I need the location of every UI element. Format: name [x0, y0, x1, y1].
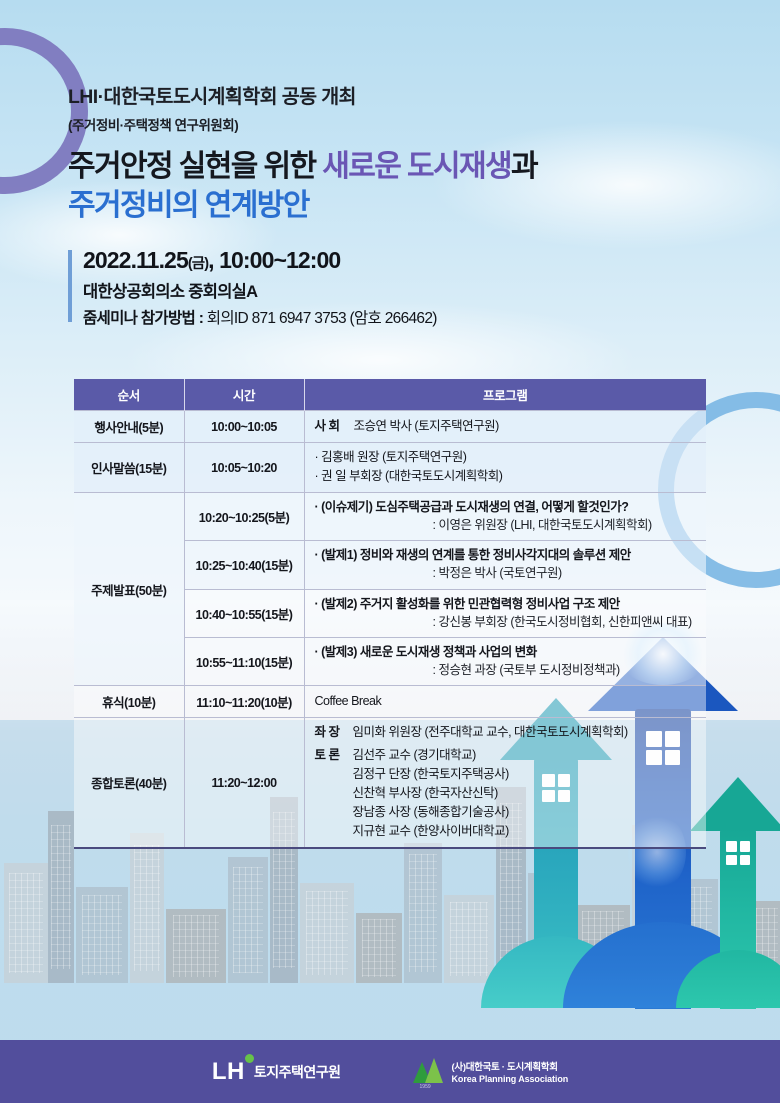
title-part-3: 과 [511, 150, 537, 183]
host-line: LHI·대한국토도시계획학회 공동 개최 [68, 80, 708, 109]
table-row: 종합토론(40분) 11:20~12:00 좌 장임미화 위원장 (전주대학교 … [74, 718, 706, 849]
lh-dot-icon [245, 1054, 254, 1063]
row-time: 11:10~11:20(10분) [184, 686, 304, 718]
greeting-line: · 김홍배 원장 (토지주택연구원) [315, 448, 699, 467]
title-part-2-highlight: 새로운 도시재생 [322, 150, 511, 183]
session-speaker: : 박정은 박사 (국토연구원) [315, 564, 699, 582]
kpa-name-en: Korea Planning Association [452, 1074, 569, 1084]
session-speaker: : 강신봉 부회장 (한국도시정비협회, 신한피앤씨 대표) [315, 613, 699, 631]
event-datetime: 2022.11.25(금), 10:00~12:00 [83, 247, 708, 274]
col-header-time: 시간 [184, 379, 304, 411]
panelist-name: 신찬혁 부사장 (한국자산신탁) [353, 786, 498, 800]
session-title: · (발제3) 새로운 도시재생 정책과 사업의 변화 [315, 645, 537, 659]
row-time: 10:20~10:25(5분) [184, 493, 304, 541]
row-program: · (이슈제기) 도심주택공급과 도시재생의 연결, 어떻게 할것인가? : 이… [304, 493, 706, 541]
row-program: · (발제1) 정비와 재생의 연계를 통한 정비사각지대의 솔루션 제안 : … [304, 541, 706, 589]
panel-line: 신찬혁 부사장 (한국자산신탁) [315, 784, 699, 803]
row-program: Coffee Break [304, 686, 706, 718]
table-head: 순서 시간 프로그램 [74, 379, 706, 411]
zoom-meeting-id: 회의ID 871 6947 3753 (암호 266462) [207, 310, 437, 327]
row-program: 사 회 조승연 박사 (토지주택연구원) [304, 411, 706, 443]
program-table: 순서 시간 프로그램 행사안내(5분) 10:00~10:05 사 회 조승연 … [74, 379, 706, 849]
page-title: 주거안정 실현을 위한 새로운 도시재생과 주거정비의 연계방안 [68, 147, 708, 225]
panelist-name: 김정구 단장 (한국토지주택공사) [353, 767, 509, 781]
footer-bar: LH 토지주택연구원 1959 (사)대한국토 · 도시계획학회 Korea P… [0, 1040, 780, 1103]
col-header-program: 프로그램 [304, 379, 706, 411]
table-header-row: 순서 시간 프로그램 [74, 379, 706, 411]
table-row: 행사안내(5분) 10:00~10:05 사 회 조승연 박사 (토지주택연구원… [74, 411, 706, 443]
session-title: · (발제1) 정비와 재생의 연계를 통한 정비사각지대의 솔루션 제안 [315, 548, 631, 562]
panel-line: 지규현 교수 (한양사이버대학교) [315, 822, 699, 841]
session-title: · (이슈제기) 도심주택공급과 도시재생의 연결, 어떻게 할것인가? [315, 500, 629, 514]
table-row: 주제발표(50분) 10:20~10:25(5분) · (이슈제기) 도심주택공… [74, 493, 706, 541]
committee-line: (주거정비·주택정책 연구위원회) [68, 114, 708, 134]
zoom-info: 줌세미나 참가방법 : 회의ID 871 6947 3753 (암호 26646… [83, 306, 708, 328]
kpa-name-block: (사)대한국토 · 도시계획학회 Korea Planning Associat… [452, 1059, 569, 1084]
row-order: 행사안내(5분) [74, 411, 184, 443]
lh-institute-name: 토지주택연구원 [254, 1062, 341, 1082]
row-order: 주제발표(50분) [74, 493, 184, 686]
mc-label: 사 회 [315, 417, 351, 435]
row-order: 종합토론(40분) [74, 718, 184, 849]
row-order: 인사말씀(15분) [74, 443, 184, 493]
table-row: 인사말씀(15분) 10:05~10:20 · 김홍배 원장 (토지주택연구원)… [74, 443, 706, 493]
title-part-1: 주거안정 실현을 위한 [68, 150, 322, 183]
panelist-name: 장남종 사장 (동해종합기술공사) [353, 805, 509, 819]
lh-mark-text: LH [212, 1058, 245, 1085]
kpa-mark-icon: 1959 [413, 1058, 443, 1086]
program-table-wrapper: 순서 시간 프로그램 행사안내(5분) 10:00~10:05 사 회 조승연 … [74, 379, 706, 849]
row-program: · (발제3) 새로운 도시재생 정책과 사업의 변화 : 정승현 과장 (국토… [304, 637, 706, 685]
row-time: 10:55~11:10(15분) [184, 637, 304, 685]
panel-line: 김정구 단장 (한국토지주택공사) [315, 765, 699, 784]
row-time: 11:20~12:00 [184, 718, 304, 849]
session-speaker: : 정승현 과장 (국토부 도시정비정책과) [315, 661, 699, 679]
table-body: 행사안내(5분) 10:00~10:05 사 회 조승연 박사 (토지주택연구원… [74, 411, 706, 849]
event-date: 2022.11.25 [83, 247, 188, 273]
zoom-label: 줌세미나 참가방법 : [83, 310, 207, 327]
col-header-order: 순서 [74, 379, 184, 411]
row-time: 10:05~10:20 [184, 443, 304, 493]
row-time: 10:40~10:55(15분) [184, 589, 304, 637]
event-time: , 10:00~12:00 [208, 247, 340, 273]
panel-label: 토 론 [315, 746, 353, 765]
row-program: 좌 장임미화 위원장 (전주대학교 교수, 대한국토도시계획학회) 토 론김선주… [304, 718, 706, 849]
session-title: · (발제2) 주거지 활성화를 위한 민관협력형 정비사업 구조 제안 [315, 597, 620, 611]
kpa-founded-year: 1959 [420, 1084, 431, 1090]
session-speaker: : 이영은 위원장 (LHI, 대한국토도시계획학회) [315, 516, 699, 534]
panel-line: 장남종 사장 (동해종합기술공사) [315, 803, 699, 822]
row-time: 10:25~10:40(15분) [184, 541, 304, 589]
row-program: · (발제2) 주거지 활성화를 위한 민관협력형 정비사업 구조 제안 : 강… [304, 589, 706, 637]
chair-label: 좌 장 [315, 723, 353, 742]
poster-header: LHI·대한국토도시계획학회 공동 개최 (주거정비·주택정책 연구위원회) 주… [68, 80, 708, 225]
event-venue: 대한상공회의소 중회의실A [83, 278, 708, 302]
event-day: (금) [188, 256, 208, 272]
row-time: 10:00~10:05 [184, 411, 304, 443]
chair-line: 좌 장임미화 위원장 (전주대학교 교수, 대한국토도시계획학회) [315, 723, 699, 742]
row-order: 휴식(10분) [74, 686, 184, 718]
event-details: 2022.11.25(금), 10:00~12:00 대한상공회의소 중회의실A… [68, 247, 708, 328]
panel-line: 토 론김선주 교수 (경기대학교) [315, 746, 699, 765]
chair-name: 임미화 위원장 (전주대학교 교수, 대한국토도시계획학회) [353, 725, 628, 739]
row-program: · 김홍배 원장 (토지주택연구원) · 권 일 부회장 (대한국토도시계획학회… [304, 443, 706, 493]
mc-name: 조승연 박사 (토지주택연구원) [353, 419, 498, 433]
title-line-2: 주거정비의 연계방안 [68, 189, 309, 222]
panelist-name: 김선주 교수 (경기대학교) [353, 748, 476, 762]
kpa-logo: 1959 (사)대한국토 · 도시계획학회 Korea Planning Ass… [413, 1058, 569, 1086]
kpa-name-ko: (사)대한국토 · 도시계획학회 [452, 1059, 569, 1073]
table-row: 휴식(10분) 11:10~11:20(10분) Coffee Break [74, 686, 706, 718]
lh-wordmark: LH [212, 1060, 245, 1084]
greeting-line: · 권 일 부회장 (대한국토도시계획학회) [315, 467, 699, 486]
lh-logo: LH 토지주택연구원 [212, 1060, 341, 1084]
panelist-name: 지규현 교수 (한양사이버대학교) [353, 824, 509, 838]
